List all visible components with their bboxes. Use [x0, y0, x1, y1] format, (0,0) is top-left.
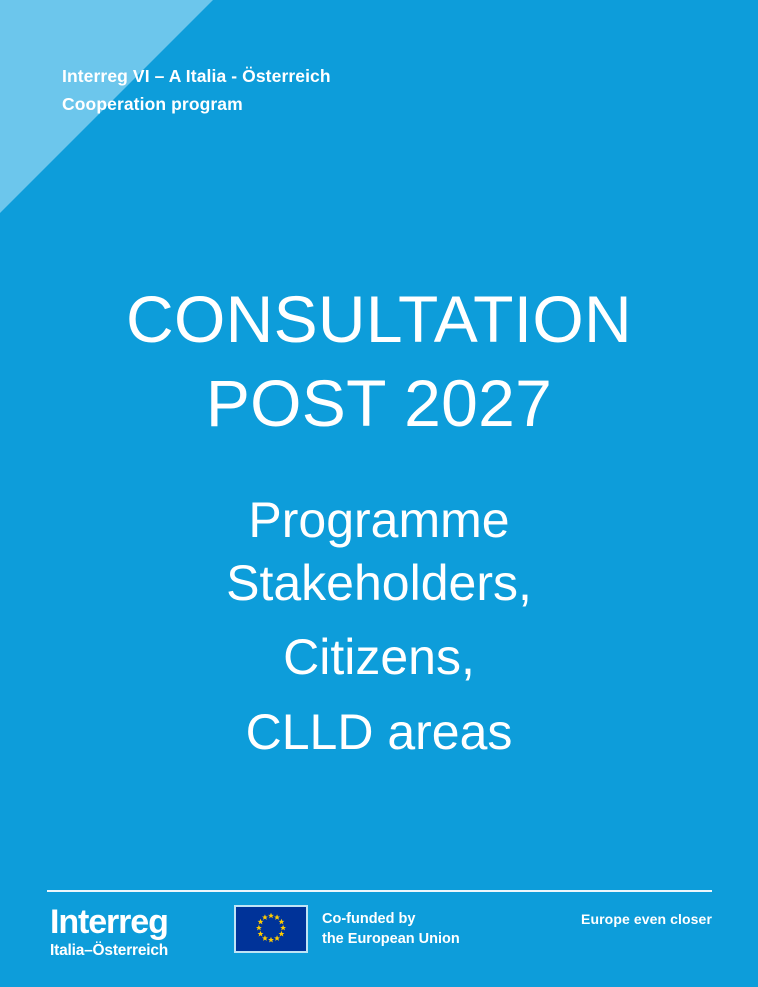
footer: Interreg Italia–Österreich: [47, 900, 712, 962]
footer-divider: [47, 890, 712, 892]
cover-page: Interreg VI – A Italia - Österreich Coop…: [0, 0, 758, 987]
program-header: Interreg VI – A Italia - Österreich Coop…: [62, 62, 331, 119]
subtitle-audience: Programme Stakeholders,: [164, 489, 594, 614]
eu-funding-lockup: Co-funded by the European Union: [234, 905, 460, 953]
interreg-wordmark: Interreg: [50, 905, 168, 939]
interreg-logo: Interreg Italia–Österreich: [50, 905, 168, 959]
eu-funding-caption: Co-funded by the European Union: [322, 909, 460, 949]
interreg-subbrand-label: Italia–Österreich: [50, 943, 168, 959]
subtitle-block: Programme Stakeholders, Citizens, CLLD a…: [0, 489, 758, 763]
subtitle-citizens: Citizens,: [0, 626, 758, 689]
subtitle-clld-areas: CLLD areas: [0, 701, 758, 764]
page-title: CONSULTATION POST 2027: [0, 278, 758, 446]
european-union-flag-icon: [234, 905, 308, 953]
programme-tagline: Europe even closer: [581, 911, 712, 927]
